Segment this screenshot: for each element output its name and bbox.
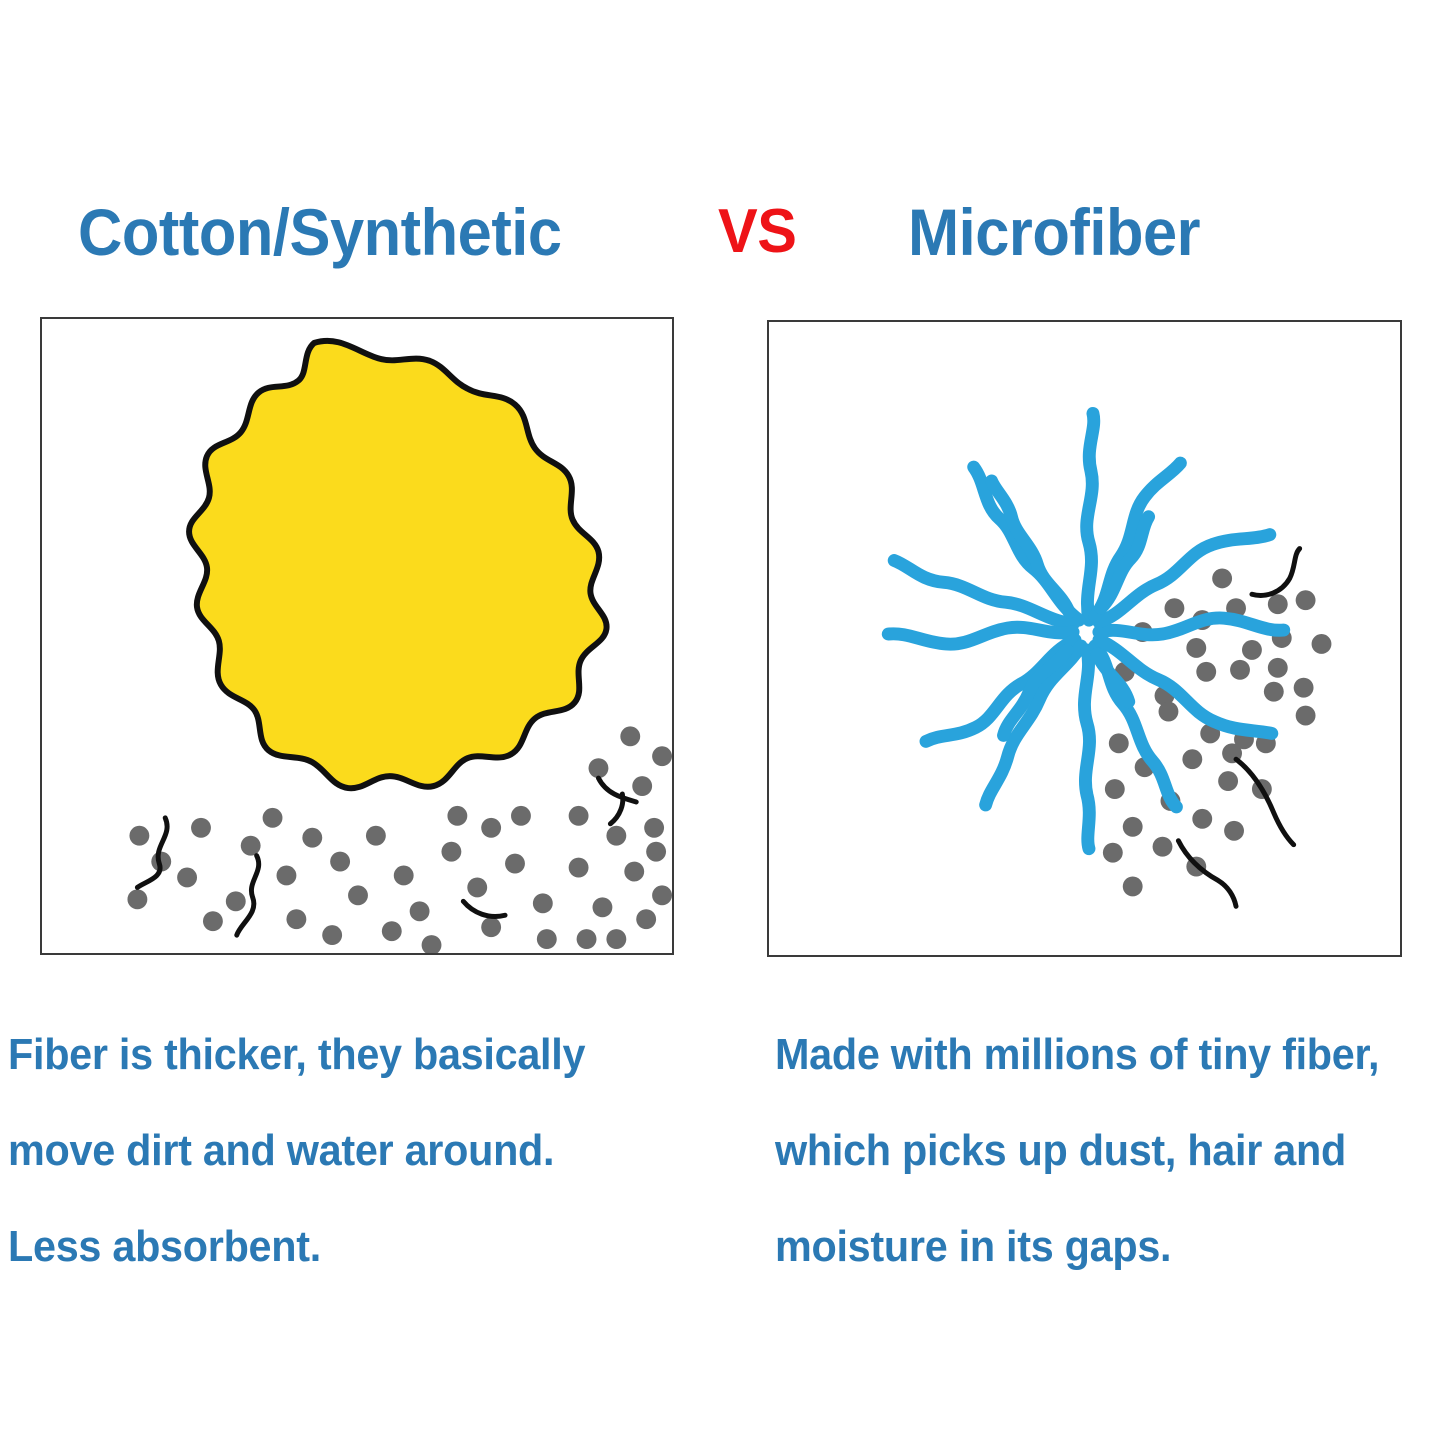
cotton-synthetic-panel	[40, 317, 674, 955]
left-panel-title: Cotton/Synthetic	[78, 186, 562, 278]
title-row: Cotton/Synthetic VS Microfiber	[0, 186, 1449, 278]
microfiber-illustration	[769, 322, 1400, 955]
left-caption: Fiber is thicker, they basically move di…	[8, 1007, 685, 1295]
versus-label: VS	[718, 186, 796, 278]
cotton-synthetic-illustration	[42, 319, 672, 953]
right-panel-title: Microfiber	[908, 186, 1200, 278]
microfiber-panel	[767, 320, 1402, 957]
infographic-canvas: Cotton/Synthetic VS Microfiber	[0, 0, 1449, 1449]
thick-fiber-blob	[189, 341, 607, 788]
right-caption: Made with millions of tiny fiber, which …	[775, 1007, 1433, 1295]
right-caption-line-2: which picks up dust, hair and	[775, 1103, 1433, 1199]
left-caption-line-3: Less absorbent.	[8, 1199, 685, 1295]
left-caption-line-1: Fiber is thicker, they basically	[8, 1007, 685, 1103]
right-caption-line-1: Made with millions of tiny fiber,	[775, 1007, 1433, 1103]
left-caption-line-2: move dirt and water around.	[8, 1103, 685, 1199]
right-caption-line-3: moisture in its gaps.	[775, 1199, 1433, 1295]
